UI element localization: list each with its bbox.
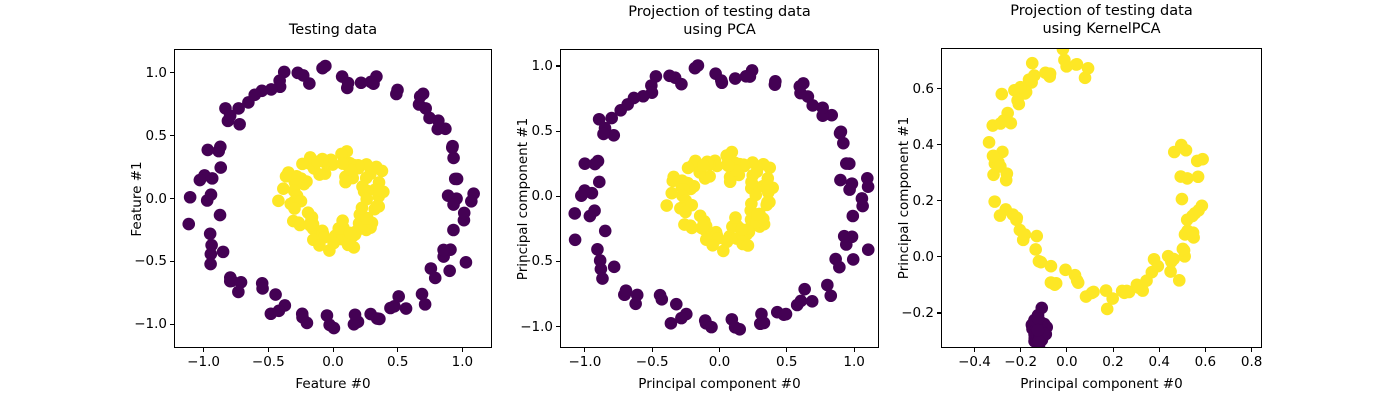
scatter-point [596, 272, 609, 285]
y-tick-label: 1.0 [532, 58, 553, 74]
scatter-point [1032, 324, 1045, 337]
scatter-point [460, 256, 473, 269]
scatter-point [1058, 54, 1071, 67]
scatter-point [1000, 174, 1013, 187]
scatter-point [356, 180, 369, 193]
scatter-point [224, 271, 237, 284]
scatter-point [256, 282, 269, 295]
scatter-point [392, 290, 405, 303]
x-tick-label: −0.4 [958, 354, 991, 370]
x-axis-label: Principal component #0 [638, 376, 800, 392]
panel-title: Projection of testing data using PCA [500, 3, 939, 39]
scatter-point [736, 223, 749, 236]
y-tick-mark [556, 131, 560, 132]
x-tick-label: 0.8 [1241, 354, 1262, 370]
scatter-point [742, 239, 755, 252]
y-tick-label: 1.0 [146, 65, 167, 81]
scatter-point [729, 72, 742, 85]
x-tick-label: 0.0 [709, 354, 730, 370]
y-tick-mark [937, 256, 941, 257]
scatter-point [311, 155, 324, 168]
scatter-point [751, 208, 764, 221]
y-tick-label: 0.0 [532, 188, 553, 204]
scatter-point [296, 158, 309, 171]
scatter-point [269, 288, 282, 301]
scatter-point [1196, 153, 1209, 166]
x-tick-label: 0.4 [1148, 354, 1169, 370]
y-axis-label: Principal component #1 [896, 117, 912, 279]
scatter-point [706, 239, 719, 252]
y-tick-mark [937, 200, 941, 201]
scatter-point [447, 198, 460, 211]
scatter-point [355, 76, 368, 89]
x-tick-label: 0.0 [322, 354, 343, 370]
scatter-point [204, 227, 217, 240]
x-tick-label: −1.0 [569, 354, 602, 370]
y-tick-mark [556, 196, 560, 197]
x-tick-label: 0.6 [1195, 354, 1216, 370]
scatter-point [273, 305, 286, 318]
scatter-point [360, 212, 373, 225]
scatter-point [1032, 312, 1045, 325]
y-tick-label: −1.0 [520, 319, 553, 335]
scatter-point [987, 150, 1000, 163]
scatter-point [994, 209, 1007, 222]
y-axis-label: Feature #1 [129, 161, 145, 236]
scatter-point [458, 207, 471, 220]
y-tick-label: 0.5 [146, 128, 167, 144]
scatter-point [204, 258, 217, 271]
x-tick-mark [397, 348, 398, 352]
y-tick-mark [170, 198, 174, 199]
x-tick-mark [652, 348, 653, 352]
y-tick-label: 0.4 [913, 137, 934, 153]
y-axis-label: Principal component #1 [515, 117, 531, 279]
scatter-point [360, 193, 373, 206]
y-tick-label: 0.2 [913, 193, 934, 209]
scatter-point [568, 207, 581, 220]
scatter-point [722, 160, 735, 173]
scatter-point [214, 140, 227, 153]
scatter-point [847, 253, 860, 266]
scatter-point [575, 189, 588, 202]
scatter-point [205, 188, 218, 201]
scatter-point [316, 62, 329, 75]
scatter-point [1175, 139, 1188, 152]
scatter-point [697, 219, 710, 232]
x-tick-mark [333, 348, 334, 352]
scatter-point [670, 298, 683, 311]
scatter-point [621, 98, 634, 111]
scatter-point [1071, 58, 1084, 71]
scatter-point [794, 80, 807, 93]
scatter-point [272, 195, 285, 208]
scatter-series [660, 146, 779, 258]
scatter-point [1011, 211, 1024, 224]
y-tick-mark [937, 88, 941, 89]
scatter-point [328, 322, 341, 335]
scatter-point [373, 313, 386, 326]
scatter-point [795, 295, 808, 308]
x-tick-mark [974, 348, 975, 352]
scatter-point [656, 293, 669, 306]
scatter-point [465, 195, 478, 208]
y-tick-label: −0.2 [901, 305, 934, 321]
scatter-point [233, 118, 246, 131]
scatter-point [1087, 286, 1100, 299]
scatter-point [597, 128, 610, 141]
scatter-point [313, 239, 326, 252]
scatter-series [1026, 302, 1053, 348]
scatter-point [373, 184, 386, 197]
scatter-point [1033, 335, 1046, 348]
scatter-point [591, 243, 604, 256]
scatter-point [629, 297, 642, 310]
scatter-point [194, 174, 207, 187]
scatter-point [780, 308, 793, 321]
scatter-point [437, 244, 450, 257]
x-tick-mark [786, 348, 787, 352]
scatter-points-layer [175, 50, 492, 348]
scatter-point [214, 209, 227, 222]
scatter-point [821, 279, 834, 292]
scatter-point [697, 159, 710, 172]
scatter-points-layer [561, 50, 879, 348]
scatter-point [443, 264, 456, 277]
scatter-point [988, 195, 1001, 208]
scatter-point [715, 74, 728, 87]
scatter-series [272, 145, 390, 257]
scatter-point [749, 189, 762, 202]
scatter-point [592, 155, 605, 168]
y-tick-mark [937, 144, 941, 145]
y-tick-mark [170, 324, 174, 325]
scatter-point [214, 161, 227, 174]
scatter-point [1013, 98, 1026, 111]
scatter-point [620, 284, 633, 297]
x-tick-label: −0.2 [1004, 354, 1037, 370]
y-tick-mark [556, 65, 560, 66]
scatter-point [1019, 228, 1032, 241]
scatter-point [391, 84, 404, 97]
scatter-point [1039, 66, 1052, 79]
scatter-point [1187, 226, 1200, 239]
scatter-point [689, 62, 702, 75]
scatter-point [983, 136, 996, 149]
scatter-point [217, 246, 230, 259]
scatter-point [608, 261, 621, 274]
x-tick-mark [1020, 348, 1021, 352]
axes-area [174, 49, 492, 348]
scatter-point [222, 115, 235, 128]
scatter-point [806, 295, 819, 308]
scatter-point [721, 235, 734, 248]
x-axis-label: Feature #0 [295, 376, 370, 392]
y-tick-mark [937, 312, 941, 313]
scatter-point [705, 321, 718, 334]
scatter-point [579, 157, 592, 170]
scatter-point [599, 225, 612, 238]
scatter-point [1177, 243, 1190, 256]
scatter-point [344, 227, 357, 240]
scatter-point [824, 289, 837, 302]
scatter-point [666, 175, 679, 188]
x-tick-label: −1.0 [187, 354, 220, 370]
panel-title: Testing data [114, 21, 552, 39]
scatter-point [1167, 253, 1180, 266]
x-tick-mark [854, 348, 855, 352]
scatter-point [372, 200, 385, 213]
scatter-point [184, 191, 197, 204]
scatter-point [248, 89, 261, 102]
scatter-point [447, 224, 460, 237]
x-tick-mark [1113, 348, 1114, 352]
scatter-point [733, 323, 746, 336]
y-tick-label: 0.6 [913, 81, 934, 97]
scatter-point [1181, 172, 1194, 185]
axes-area [560, 49, 879, 348]
scatter-point [1152, 260, 1165, 273]
scatter-point [740, 70, 753, 83]
scatter-point [840, 157, 853, 170]
scatter-point [987, 168, 1000, 181]
scatter-point [763, 196, 776, 209]
x-tick-label: 1.0 [843, 354, 864, 370]
x-tick-mark [462, 348, 463, 352]
scatter-point [769, 75, 782, 88]
scatter-point [1045, 260, 1058, 273]
x-tick-label: 1.0 [452, 354, 473, 370]
scatter-point [834, 127, 847, 140]
x-tick-mark [268, 348, 269, 352]
scatter-point [675, 312, 688, 325]
x-axis-label: Principal component #0 [1020, 376, 1182, 392]
scatter-point [280, 170, 293, 183]
x-tick-mark [1251, 348, 1252, 352]
scatter-point [1192, 170, 1205, 183]
scatter-point [686, 222, 699, 235]
scatter-point [798, 283, 811, 296]
scatter-point [327, 237, 340, 250]
x-tick-mark [1159, 348, 1160, 352]
scatter-point [1176, 193, 1189, 206]
x-tick-mark [719, 348, 720, 352]
x-tick-label: 0.2 [1102, 354, 1123, 370]
scatter-point [838, 230, 851, 243]
scatter-series [983, 49, 1209, 315]
y-tick-label: 0.0 [146, 191, 167, 207]
y-tick-mark [556, 261, 560, 262]
scatter-point [1192, 204, 1205, 217]
scatter-point [847, 210, 860, 223]
x-tick-mark [1205, 348, 1206, 352]
y-tick-mark [556, 326, 560, 327]
x-tick-mark [203, 348, 204, 352]
scatter-series [182, 60, 480, 335]
scatter-point [342, 77, 355, 90]
scatter-point [729, 211, 742, 224]
y-tick-mark [170, 135, 174, 136]
x-tick-label: 0.5 [387, 354, 408, 370]
x-tick-label: −0.5 [252, 354, 285, 370]
scatter-point [301, 317, 314, 330]
x-tick-label: 0.5 [776, 354, 797, 370]
scatter-point [336, 214, 349, 227]
scatter-point [833, 261, 846, 274]
scatter-point [277, 182, 290, 195]
y-tick-mark [170, 261, 174, 262]
scatter-point [446, 141, 459, 154]
scatter-point [569, 234, 582, 247]
scatter-point [1029, 243, 1042, 256]
x-tick-label: −0.5 [636, 354, 669, 370]
scatter-point [336, 157, 349, 170]
scatter-point [834, 174, 847, 187]
scatter-point [995, 88, 1008, 101]
scatter-point [761, 181, 774, 194]
scatter-point [1082, 62, 1095, 75]
scatter-point [588, 204, 601, 217]
scatter-point [1014, 81, 1027, 94]
scatter-point [291, 67, 304, 80]
scatter-point [660, 199, 673, 212]
scatter-series [568, 59, 874, 335]
scatter-point [304, 219, 317, 232]
scatter-point [663, 69, 676, 82]
scatter-point [1048, 278, 1061, 291]
scatter-point [1173, 274, 1186, 287]
scatter-point [1120, 285, 1133, 298]
scatter-point [994, 117, 1007, 130]
scatter-point [232, 286, 245, 299]
y-tick-label: 0.0 [913, 249, 934, 265]
matplotlib-figure: Testing data −1.0−0.50.00.51.0−1.0−0.50.… [0, 0, 1400, 400]
scatter-point [416, 288, 429, 301]
scatter-point [862, 180, 875, 193]
scatter-point [449, 173, 462, 186]
panel-title: Projection of testing data using KernelP… [881, 2, 1322, 38]
scatter-point [679, 206, 692, 219]
y-tick-label: −0.5 [134, 253, 167, 269]
scatter-point [288, 202, 301, 215]
scatter-point [400, 302, 413, 315]
scatter-points-layer [942, 49, 1262, 348]
scatter-point [593, 176, 606, 189]
scatter-point [201, 144, 214, 157]
scatter-point [182, 218, 195, 231]
scatter-point [1072, 276, 1085, 289]
scatter-point [1030, 230, 1043, 243]
scatter-point [414, 90, 427, 103]
scatter-point [745, 176, 758, 189]
scatter-point [665, 187, 678, 200]
x-tick-mark [584, 348, 585, 352]
scatter-point [1026, 57, 1039, 70]
scatter-point [349, 308, 362, 321]
scatter-point [843, 183, 856, 196]
x-tick-label: 0.0 [1056, 354, 1077, 370]
y-tick-label: 0.5 [532, 123, 553, 139]
axes-area [941, 48, 1262, 348]
scatter-point [755, 308, 768, 321]
y-tick-mark [170, 72, 174, 73]
x-tick-mark [1066, 348, 1067, 352]
y-tick-label: −1.0 [134, 316, 167, 332]
scatter-point [856, 192, 869, 205]
scatter-point [429, 272, 442, 285]
scatter-point [862, 243, 875, 256]
scatter-point [682, 162, 695, 175]
